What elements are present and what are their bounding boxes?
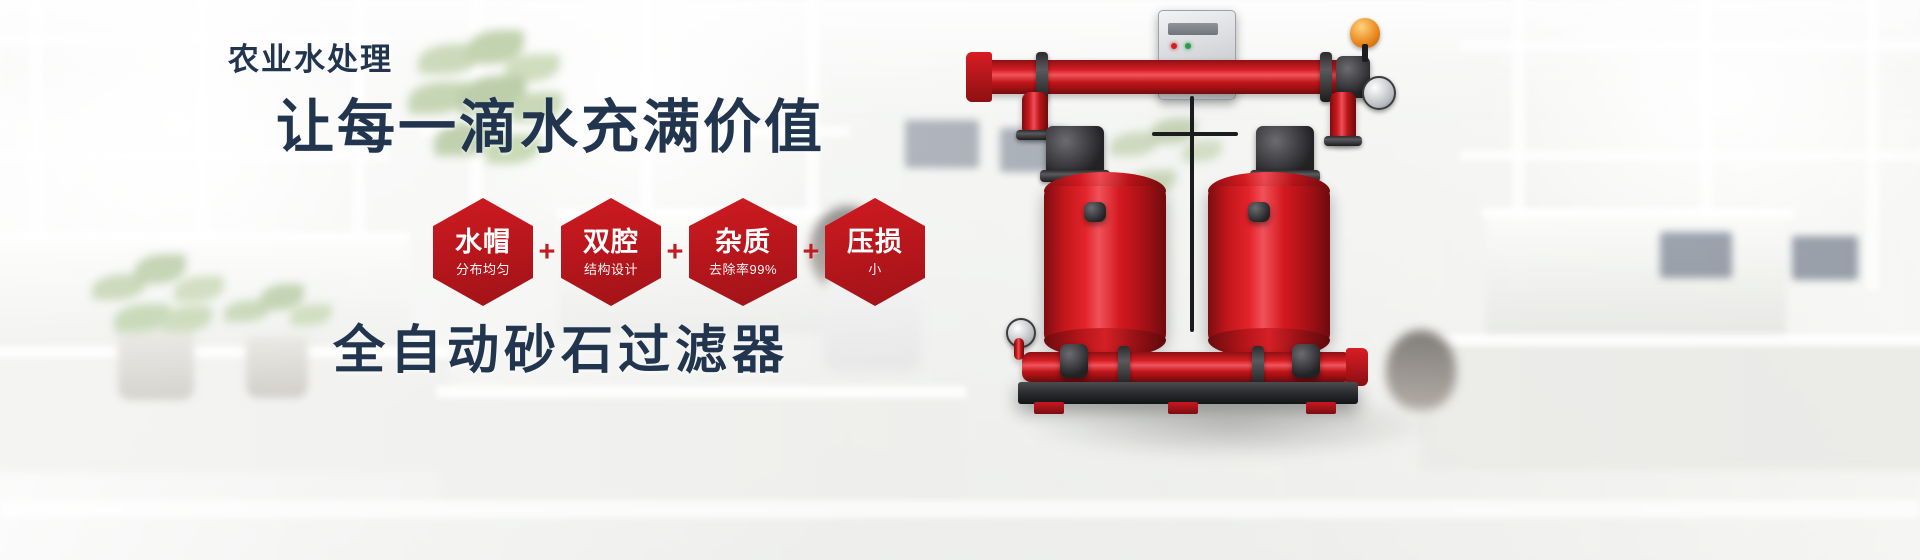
tank-valve-left: [1046, 126, 1104, 176]
headline-text: 让每一滴水充满价值: [276, 98, 825, 159]
valve-stem: [1362, 44, 1368, 62]
gauge-stem-pipe: [1014, 338, 1024, 360]
feature-badge-row: 水帽 分布均匀 + 双腔 结构设计 + 杂质 去除率99% + 压损 小: [433, 197, 925, 307]
subheadline-text: 全自动砂石过滤器: [333, 325, 789, 377]
pressure-gauge: [1362, 76, 1396, 110]
pipe-flange: [1324, 136, 1362, 146]
badge-subtitle: 去除率99%: [709, 263, 777, 276]
feature-badge-3: 杂质 去除率99%: [689, 198, 797, 306]
drain-valve: [1292, 344, 1320, 378]
skid-base: [1018, 382, 1358, 404]
tank-access-port: [1248, 202, 1270, 222]
plus-separator-2: +: [661, 238, 689, 267]
badge-title: 双腔: [583, 229, 639, 256]
controller-led: [1171, 43, 1177, 49]
controller-cable: [1152, 132, 1238, 136]
banner-copy: 农业水处理 让每一滴水充满价值 水帽 分布均匀 + 双腔 结构设计 + 杂质 去…: [0, 0, 1000, 560]
controller-display: [1168, 23, 1218, 35]
feature-badge-2: 双腔 结构设计: [561, 198, 661, 306]
pipe-flange: [1320, 52, 1332, 102]
product-sand-filter: SANYCARA: [1000, 0, 1520, 560]
badge-title: 杂质: [715, 229, 771, 256]
eyebrow-text: 农业水处理: [228, 44, 393, 75]
badge-subtitle: 分布均匀: [456, 263, 510, 276]
badge-title: 水帽: [455, 229, 511, 256]
badge-subtitle: 结构设计: [584, 263, 638, 276]
plus-separator-1: +: [533, 238, 561, 267]
badge-title: 压损: [847, 229, 903, 256]
tank-valve-right: [1256, 126, 1314, 176]
controller-led: [1185, 43, 1191, 49]
controller-cable: [1190, 132, 1194, 332]
skid-foot: [1306, 402, 1336, 414]
skid-foot: [1034, 402, 1064, 414]
outlet-cone: [1346, 348, 1368, 386]
plus-separator-3: +: [797, 238, 825, 267]
feature-badge-4: 压损 小: [825, 198, 925, 306]
drain-valve: [1060, 344, 1088, 378]
feature-badge-1: 水帽 分布均匀: [433, 198, 533, 306]
tank-access-port: [1084, 202, 1106, 222]
badge-subtitle: 小: [868, 263, 882, 276]
promo-banner: SANYCARA: [0, 0, 1920, 560]
skid-foot: [1168, 402, 1198, 414]
